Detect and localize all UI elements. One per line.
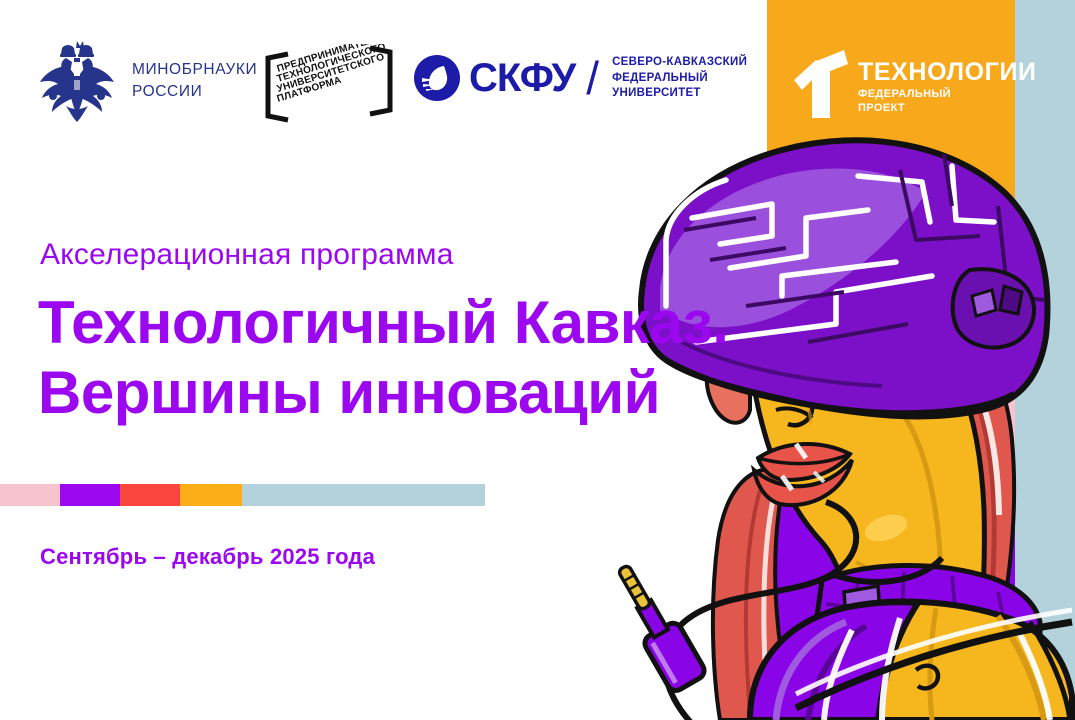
program-eyebrow: Акселерационная программа [40,240,454,270]
ministry-logo: МИНОБРНАУКИ РОССИИ [36,36,257,126]
accent-color-bar [0,484,485,506]
arrow-up-flag-mark-icon [792,46,852,118]
colorbar-segment-red [120,484,180,506]
colorbar-segment-pink [0,484,60,506]
colorbar-segment-lightblue [242,484,485,506]
program-dates: Сентябрь – декабрь 2025 года [40,546,375,568]
background-purple-block [767,485,1018,720]
ministry-logo-label: МИНОБРНАУКИ РОССИИ [132,59,257,104]
technology-project-title: ТЕХНОЛОГИИ [858,60,1037,85]
headline-line-1: Технологичный Кавказ. [38,288,768,358]
colorbar-segment-orange [180,484,242,506]
headline-line-2: Вершины инноваций [38,358,768,428]
skfu-abbreviation: СКФУ [469,58,575,98]
colorbar-segment-purple [60,484,120,506]
platform-logo: ПЛАТФОРМА УНИВЕРСИТЕТСКОГО ТЕХНОЛОГИЧЕСК… [258,44,398,126]
page-title: Технологичный Кавказ. Вершины инноваций [38,288,768,427]
technology-project-subtitle: ФЕДЕРАЛЬНЫЙ ПРОЕКТ [858,88,1037,116]
skfu-bird-circle-mark-icon [414,55,460,101]
promo-banner: МИНОБРНАУКИ РОССИИ ПЛАТФОРМА УНИВЕРСИТЕТ… [0,0,1075,720]
square-bracket-frame-icon: ПЛАТФОРМА УНИВЕРСИТЕТСКОГО ТЕХНОЛОГИЧЕСК… [258,44,398,126]
skfu-divider: / [586,55,599,101]
skfu-full-name: СЕВЕРО-КАВКАЗСКИЙ ФЕДЕРАЛЬНЫЙ УНИВЕРСИТЕ… [612,55,747,102]
technology-project-logo: ТЕХНОЛОГИИ ФЕДЕРАЛЬНЫЙ ПРОЕКТ [792,46,1037,118]
skfu-logo: СКФУ / СЕВЕРО-КАВКАЗСКИЙ ФЕДЕРАЛЬНЫЙ УНИ… [414,55,747,102]
russian-double-headed-eagle-emblem-icon [36,36,118,126]
background-pink-block [767,352,1018,485]
